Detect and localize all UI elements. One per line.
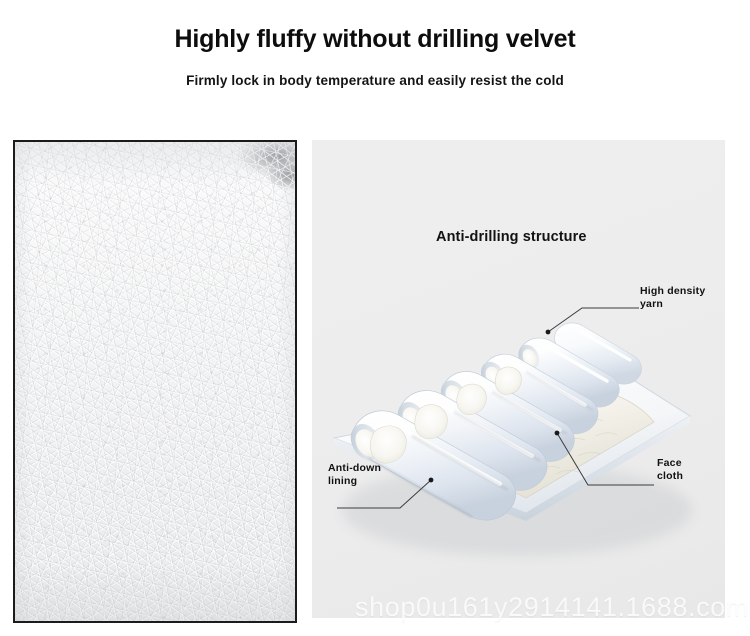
callout-face-cloth: Face cloth: [657, 457, 683, 484]
fiber-fill-macro-photo: [13, 140, 297, 623]
callout-anti-down-lining: Anti-down lining: [328, 462, 381, 489]
anchor-dot-high-density-yarn: [546, 330, 551, 335]
page-title: Highly fluffy without drilling velvet: [0, 26, 750, 54]
anchor-dot-face-cloth: [555, 431, 560, 436]
anti-drilling-structure-diagram: Anti-drilling structure: [312, 140, 725, 618]
photo-vignette: [15, 142, 295, 621]
content-panels: Anti-drilling structure: [0, 140, 750, 630]
quilt-baffle-illustration: [312, 140, 725, 618]
callout-high-density-yarn: High density yarn: [640, 285, 705, 312]
anchor-dot-anti-down-lining: [429, 478, 434, 483]
page-subtitle: Firmly lock in body temperature and easi…: [0, 73, 750, 88]
page-header: Highly fluffy without drilling velvet Fi…: [0, 0, 750, 88]
